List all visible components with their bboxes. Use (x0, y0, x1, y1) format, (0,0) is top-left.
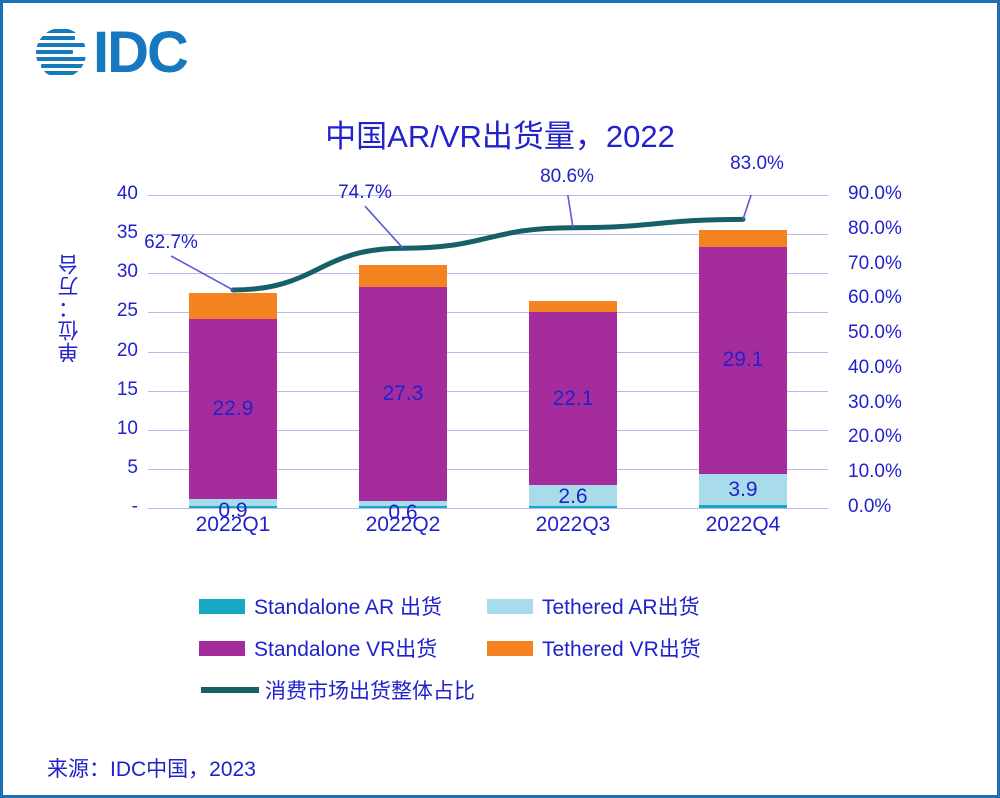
trend-value-label: 80.6% (540, 166, 594, 188)
legend-row-3: 消费市场出货整体占比 (199, 669, 819, 711)
legend-item-tethered-ar[interactable]: Tethered AR出货 (487, 591, 775, 621)
bar-segment[interactable] (189, 293, 277, 320)
trend-value-label: 62.7% (144, 232, 198, 254)
x-axis-label: 2022Q4 (683, 513, 803, 537)
y-tick-left: 25 (117, 300, 138, 322)
bar-group[interactable]: 2.622.1 (529, 195, 617, 508)
y-tick-left: 15 (117, 379, 138, 401)
bar-group[interactable]: 0.922.9 (189, 195, 277, 508)
plot-area: 403530252015105- 90.0%80.0%70.0%60.0%50.… (148, 195, 828, 508)
bar-segment[interactable]: 27.3 (359, 287, 447, 501)
y-axis-title: 单位：万台 (55, 253, 85, 363)
legend-swatch-standalone-ar (199, 599, 245, 614)
y-tick-right: 30.0% (848, 392, 902, 414)
chart-page: IDC 中国AR/VR出货量，2022 单位：万台 40353025201510… (0, 0, 1000, 798)
y-tick-left: 20 (117, 340, 138, 362)
bar-segment[interactable] (359, 265, 447, 287)
y-tick-right: 70.0% (848, 253, 902, 275)
y-axis-left-ticks: 403530252015105- (86, 195, 138, 508)
legend-swatch-consumer-share (201, 687, 259, 693)
bar-group[interactable]: 0.627.3 (359, 195, 447, 508)
y-tick-left: 35 (117, 222, 138, 244)
bar-value-label: 3.9 (699, 478, 787, 502)
x-axis-label: 2022Q1 (173, 513, 293, 537)
legend-row-2: Standalone VR出货 Tethered VR出货 (199, 627, 819, 669)
trend-value-label: 83.0% (730, 153, 784, 175)
bar-group[interactable]: 3.929.1 (699, 195, 787, 508)
bar-segment[interactable] (699, 230, 787, 246)
bar-segment[interactable]: 22.1 (529, 312, 617, 485)
bar-segment[interactable]: 0.9 (189, 499, 277, 506)
y-axis-right-ticks: 90.0%80.0%70.0%60.0%50.0%40.0%30.0%20.0%… (848, 195, 958, 508)
x-axis-label: 2022Q2 (343, 513, 463, 537)
x-axis-labels: 2022Q12022Q22022Q32022Q4 (148, 513, 828, 553)
y-tick-left: 5 (127, 457, 138, 479)
y-tick-right: 20.0% (848, 426, 902, 448)
source-note: 来源：IDC中国，2023 (47, 753, 256, 783)
globe-icon (33, 25, 89, 81)
page-title: 中国AR/VR出货量，2022 (3, 111, 997, 156)
bar-segment[interactable]: 2.6 (529, 485, 617, 505)
legend-swatch-tethered-vr (487, 641, 533, 656)
y-tick-left: 10 (117, 418, 138, 440)
bar-segment[interactable] (529, 301, 617, 313)
bar-value-label: 22.1 (529, 387, 617, 411)
bar-value-label: 22.9 (189, 397, 277, 421)
legend-item-standalone-ar[interactable]: Standalone AR 出货 (199, 591, 487, 621)
x-axis-label: 2022Q3 (513, 513, 633, 537)
legend-label-tethered-vr: Tethered VR出货 (542, 633, 701, 663)
bar-segment[interactable]: 29.1 (699, 247, 787, 475)
bar-value-label: 29.1 (699, 348, 787, 372)
legend-swatch-tethered-ar (487, 599, 533, 614)
bar-segment[interactable]: 22.9 (189, 319, 277, 498)
y-tick-left: - (132, 496, 138, 518)
bar-value-label: 2.6 (529, 485, 617, 509)
y-tick-right: 90.0% (848, 183, 902, 205)
y-tick-right: 50.0% (848, 322, 902, 344)
legend-label-consumer-share: 消费市场出货整体占比 (265, 675, 475, 705)
y-tick-right: 80.0% (848, 218, 902, 240)
legend-item-standalone-vr[interactable]: Standalone VR出货 (199, 633, 487, 663)
legend-label-standalone-vr: Standalone VR出货 (254, 633, 437, 663)
chart-legend: Standalone AR 出货 Tethered AR出货 Standalon… (199, 585, 819, 711)
y-tick-left: 30 (117, 261, 138, 283)
y-tick-right: 40.0% (848, 357, 902, 379)
bar-segment[interactable] (699, 505, 787, 508)
bar-series-layer: 0.922.90.627.32.622.13.929.1 (148, 195, 828, 508)
legend-label-tethered-ar: Tethered AR出货 (542, 591, 700, 621)
bar-segment[interactable]: 3.9 (699, 474, 787, 505)
legend-item-tethered-vr[interactable]: Tethered VR出货 (487, 633, 775, 663)
idc-logo: IDC (33, 25, 187, 81)
y-tick-right: 10.0% (848, 461, 902, 483)
bar-segment[interactable]: 0.6 (359, 501, 447, 506)
legend-swatch-standalone-vr (199, 641, 245, 656)
trend-value-label: 74.7% (338, 182, 392, 204)
y-tick-right: 0.0% (848, 496, 891, 518)
logo-wordmark: IDC (93, 25, 187, 81)
y-tick-right: 60.0% (848, 287, 902, 309)
legend-row-1: Standalone AR 出货 Tethered AR出货 (199, 585, 819, 627)
legend-label-standalone-ar: Standalone AR 出货 (254, 591, 442, 621)
legend-item-consumer-share[interactable]: 消费市场出货整体占比 (201, 675, 475, 705)
y-tick-left: 40 (117, 183, 138, 205)
bar-value-label: 27.3 (359, 382, 447, 406)
